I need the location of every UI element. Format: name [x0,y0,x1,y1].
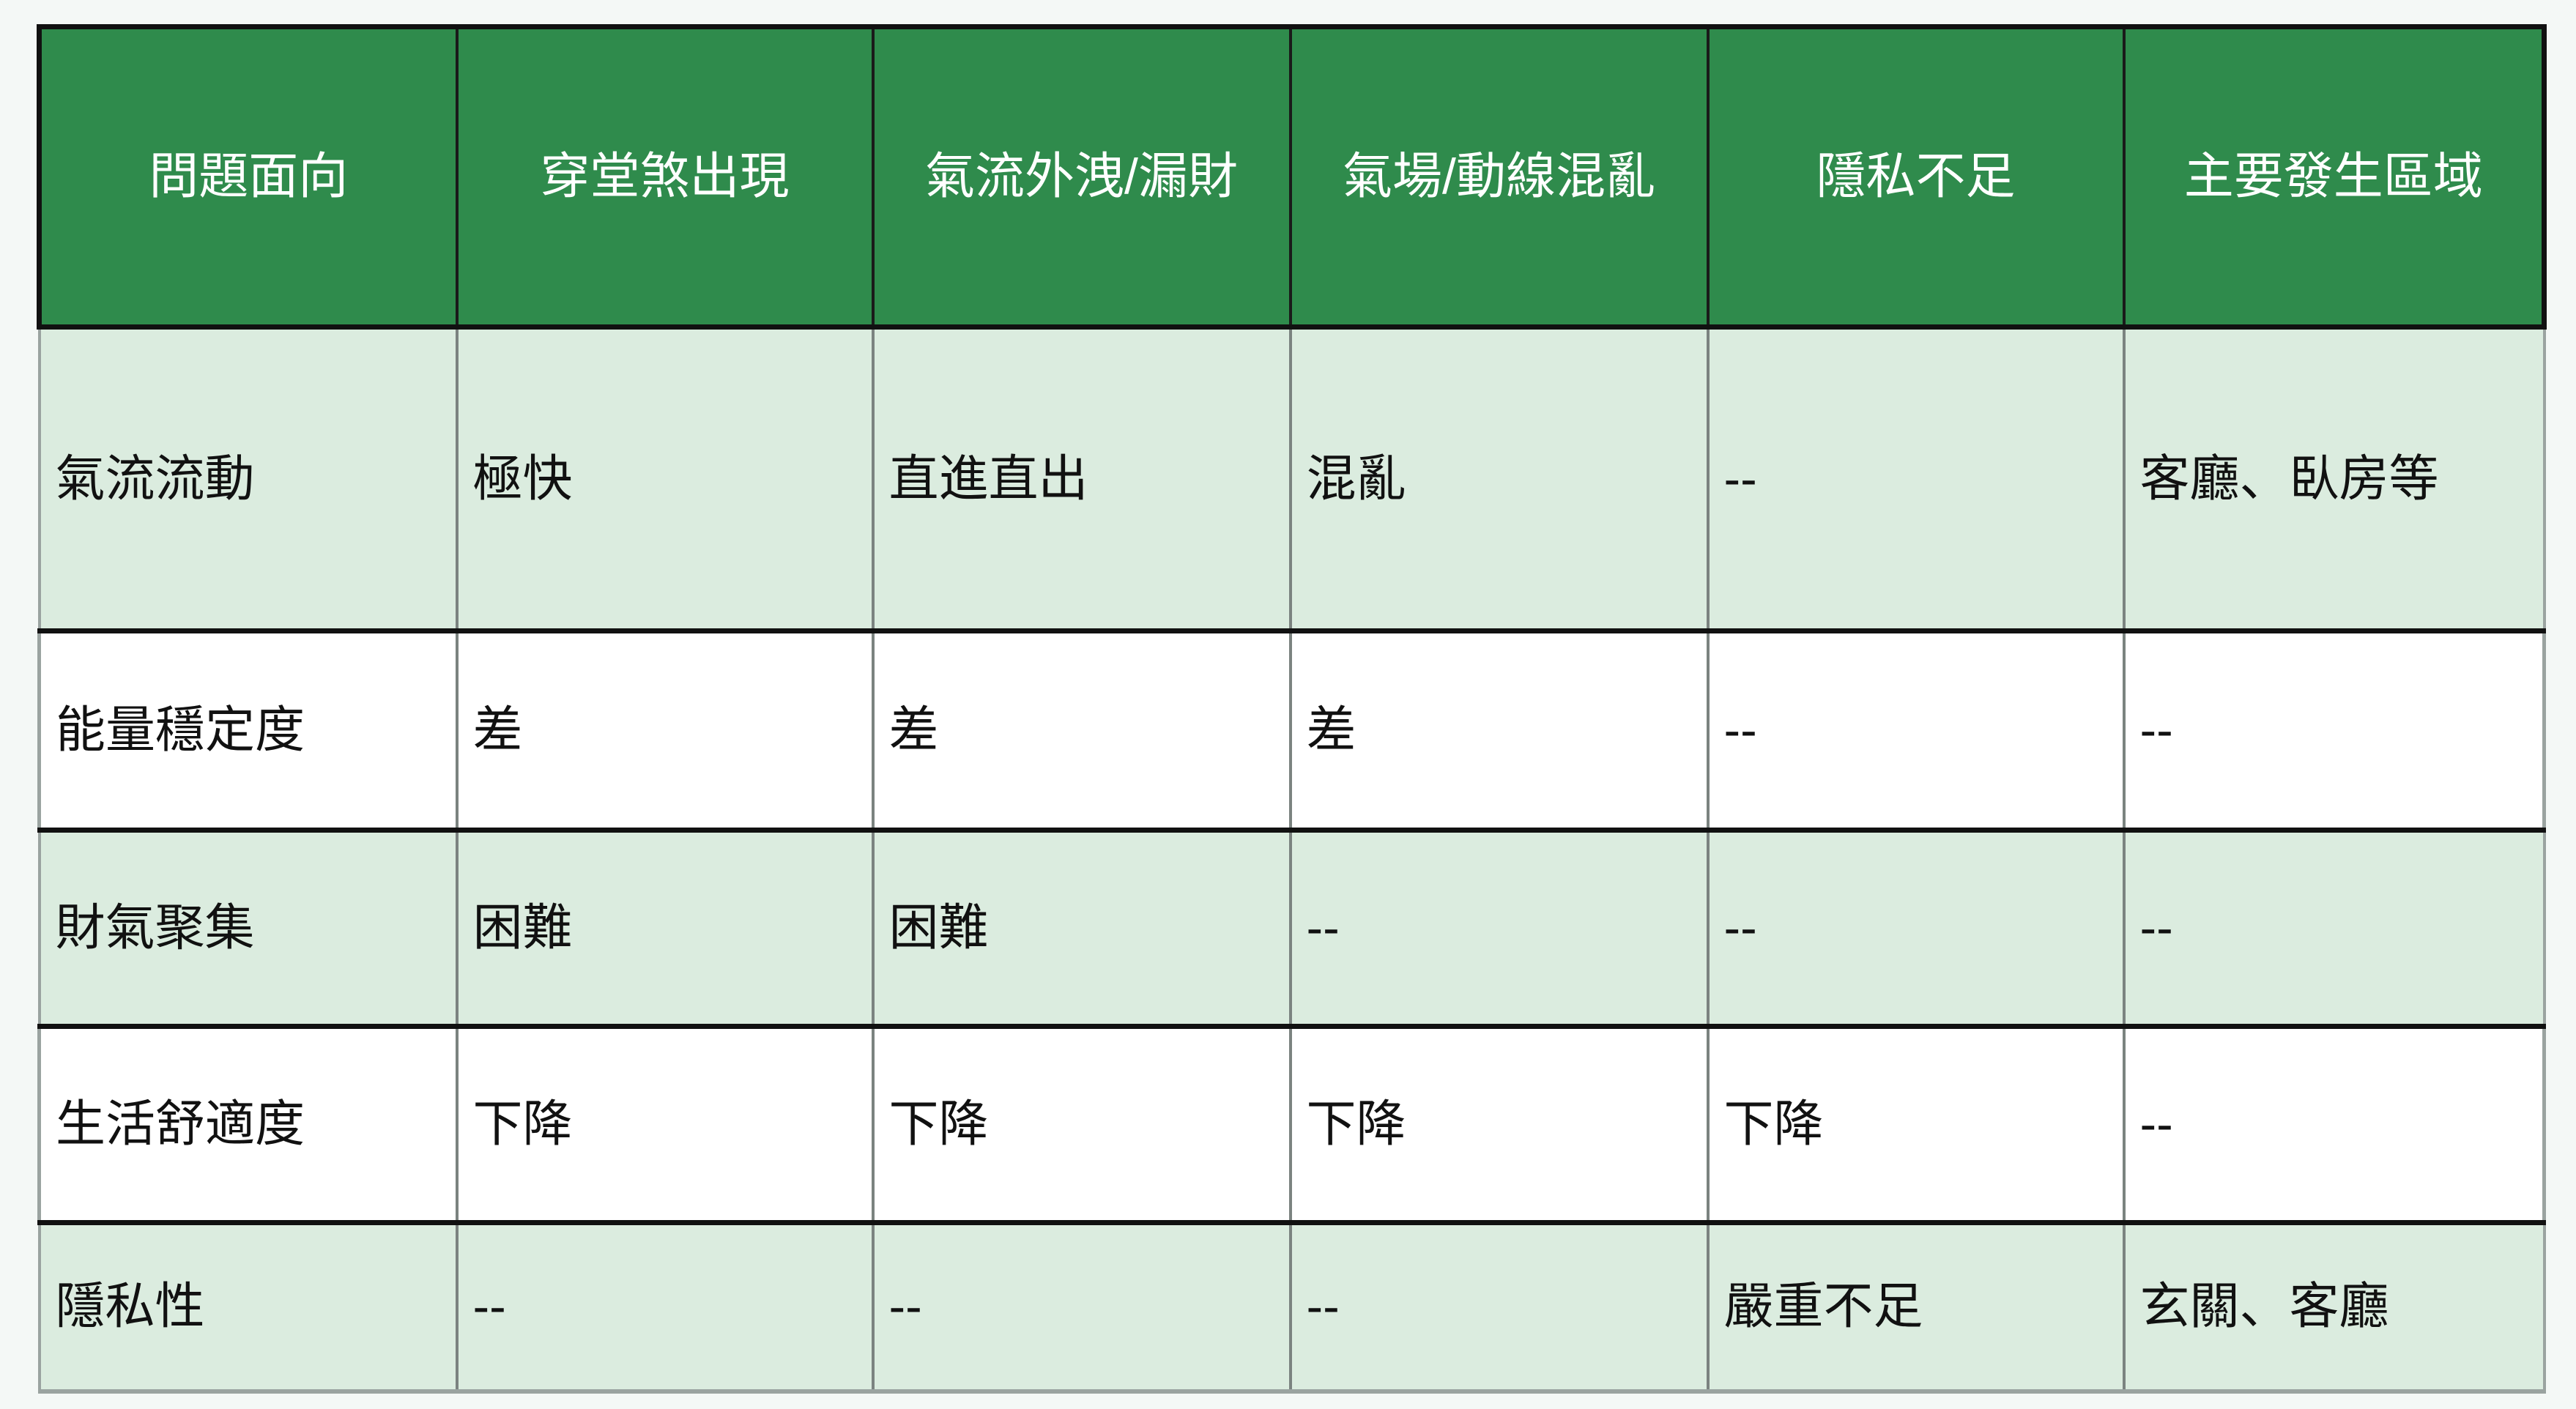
table-cell-value: 嚴重不足 [1724,1276,2108,1337]
table-row: 財氣聚集 困難 困難 -- -- -- [40,830,2545,1027]
table-cell: 差 [457,631,873,830]
table-cell-value: 玄關、客廳 [2140,1276,2528,1337]
table-cell-value: -- [2140,700,2528,761]
column-header-main-area-label: 主要發生區域 [2139,147,2529,206]
table-cell-value: 客廳、臥房等 [2140,449,2528,510]
row-aspect-cell: 生活舒適度 [40,1027,457,1223]
table-cell-value: -- [1724,700,2108,761]
table-cell: 下降 [1291,1027,1708,1223]
table-body: 氣流流動 極快 直進直出 混亂 -- 客廳、臥房等 能量穩定度 差 差 差 --… [40,327,2545,1391]
row-aspect-label: 氣流流動 [56,449,441,510]
column-header-draft-sha-label: 穿堂煞出現 [472,147,858,206]
table-row: 氣流流動 極快 直進直出 混亂 -- 客廳、臥房等 [40,327,2545,631]
column-header-airflow-leak: 氣流外洩/漏財 [873,27,1291,327]
table-cell: -- [1708,327,2124,631]
table-cell: 差 [1291,631,1708,830]
table-cell: -- [1291,1223,1708,1391]
column-header-qi-field-chaos-label: 氣場/動線混亂 [1305,147,1693,206]
table-cell: 困難 [457,830,873,1027]
table-cell: -- [457,1223,873,1391]
table-cell: 下降 [457,1027,873,1223]
row-aspect-cell: 財氣聚集 [40,830,457,1027]
table-row: 生活舒適度 下降 下降 下降 下降 -- [40,1027,2545,1223]
column-header-aspect-label: 問題面向 [55,147,442,206]
table-cell-value: 極快 [473,449,857,510]
comparison-table-container: 問題面向 穿堂煞出現 氣流外洩/漏財 氣場/動線混亂 隱私不足 主要發生區域 氣… [37,24,2542,1383]
table-cell: 下降 [1708,1027,2124,1223]
table-header: 問題面向 穿堂煞出現 氣流外洩/漏財 氣場/動線混亂 隱私不足 主要發生區域 [40,27,2545,327]
table-cell-value: 下降 [473,1094,857,1155]
table-cell-value: 差 [473,700,857,761]
row-aspect-label: 隱私性 [56,1276,441,1337]
table-row: 隱私性 -- -- -- 嚴重不足 玄關、客廳 [40,1223,2545,1391]
table-cell-value: 下降 [1307,1094,1692,1155]
table-cell-value: -- [889,1276,1274,1337]
table-cell: -- [873,1223,1291,1391]
table-cell-value: 直進直出 [889,449,1274,510]
column-header-aspect: 問題面向 [40,27,457,327]
column-header-main-area: 主要發生區域 [2124,27,2545,327]
row-aspect-label: 生活舒適度 [56,1094,441,1155]
table-cell-value: 差 [889,700,1274,761]
column-header-qi-field-chaos: 氣場/動線混亂 [1291,27,1708,327]
table-cell: -- [1708,631,2124,830]
table-cell-value: 困難 [473,898,857,959]
column-header-privacy: 隱私不足 [1708,27,2124,327]
table-cell: 差 [873,631,1291,830]
table-cell: 客廳、臥房等 [2124,327,2545,631]
table-cell: -- [2124,830,2545,1027]
column-header-airflow-leak-label: 氣流外洩/漏財 [888,147,1276,206]
table-cell-value: 下降 [889,1094,1274,1155]
column-header-privacy-label: 隱私不足 [1723,147,2109,206]
table-cell: -- [1291,830,1708,1027]
row-aspect-cell: 氣流流動 [40,327,457,631]
table-cell-value: -- [1307,1276,1692,1337]
column-header-draft-sha: 穿堂煞出現 [457,27,873,327]
table-cell: 困難 [873,830,1291,1027]
table-cell: -- [1708,830,2124,1027]
table-row: 能量穩定度 差 差 差 -- -- [40,631,2545,830]
row-aspect-cell: 能量穩定度 [40,631,457,830]
table-cell-value: 下降 [1724,1094,2108,1155]
feng-shui-problem-comparison-table: 問題面向 穿堂煞出現 氣流外洩/漏財 氣場/動線混亂 隱私不足 主要發生區域 氣… [37,24,2547,1394]
row-aspect-label: 能量穩定度 [56,700,441,761]
table-cell: 玄關、客廳 [2124,1223,2545,1391]
table-cell: -- [2124,631,2545,830]
table-cell: 下降 [873,1027,1291,1223]
table-cell: -- [2124,1027,2545,1223]
row-aspect-cell: 隱私性 [40,1223,457,1391]
table-cell-value: 困難 [889,898,1274,959]
table-cell-value: -- [473,1276,857,1337]
table-cell-value: -- [1307,898,1692,959]
table-header-row: 問題面向 穿堂煞出現 氣流外洩/漏財 氣場/動線混亂 隱私不足 主要發生區域 [40,27,2545,327]
table-cell-value: -- [1724,449,2108,510]
table-cell-value: -- [2140,1094,2528,1155]
table-cell-value: 差 [1307,700,1692,761]
table-cell-value: -- [2140,898,2528,959]
table-cell-value: 混亂 [1307,449,1692,510]
table-cell: 直進直出 [873,327,1291,631]
table-cell: 混亂 [1291,327,1708,631]
table-cell: 嚴重不足 [1708,1223,2124,1391]
table-cell-value: -- [1724,898,2108,959]
row-aspect-label: 財氣聚集 [56,898,441,959]
table-cell: 極快 [457,327,873,631]
